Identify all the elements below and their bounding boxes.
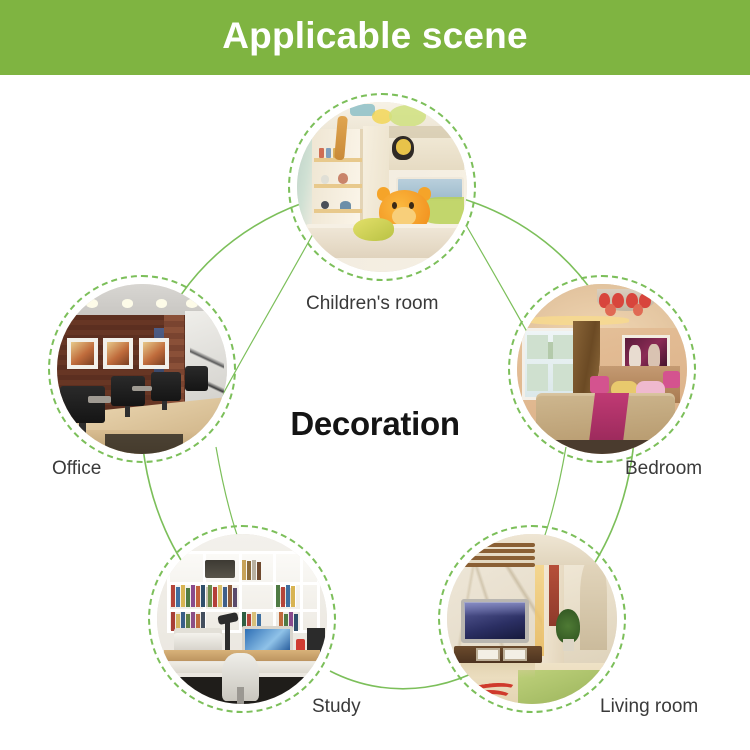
node-study[interactable] xyxy=(148,525,336,713)
photo-office xyxy=(57,284,227,454)
bookshelf-row xyxy=(208,585,237,607)
node-label-bedroom: Bedroom xyxy=(625,459,702,478)
node-children-room[interactable] xyxy=(288,93,476,281)
page-title: Applicable scene xyxy=(222,17,528,58)
node-bedroom[interactable] xyxy=(508,275,696,463)
node-label-children-room: Children's room xyxy=(306,294,438,313)
node-living-room[interactable] xyxy=(438,525,626,713)
node-office[interactable] xyxy=(48,275,236,463)
page-root: Applicable scene Decoration xyxy=(0,0,750,750)
node-circle-children-room[interactable] xyxy=(288,93,476,281)
bookshelf-row xyxy=(242,560,261,580)
photo-living-room xyxy=(447,534,617,704)
node-circle-bedroom[interactable] xyxy=(508,275,696,463)
photo-bedroom xyxy=(517,284,687,454)
node-circle-study[interactable] xyxy=(148,525,336,713)
node-label-study: Study xyxy=(312,697,361,716)
header-banner: Applicable scene xyxy=(0,0,750,75)
photo-study xyxy=(157,534,327,704)
node-label-office: Office xyxy=(52,459,101,478)
bookshelf-row xyxy=(276,585,295,607)
node-label-living-room: Living room xyxy=(600,697,698,716)
bookshelf-row xyxy=(171,585,210,607)
photo-children-room xyxy=(297,102,467,272)
node-circle-living-room[interactable] xyxy=(438,525,626,713)
diagram-stage: Decoration xyxy=(0,75,750,750)
node-circle-office[interactable] xyxy=(48,275,236,463)
